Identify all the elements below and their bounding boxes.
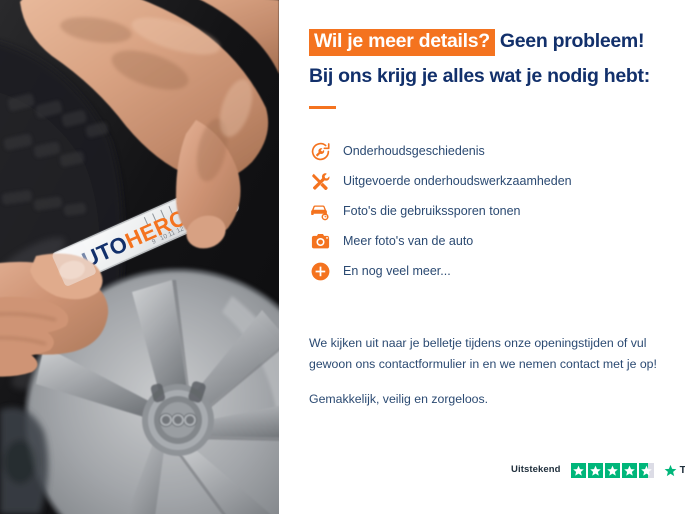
trustpilot-stars bbox=[571, 463, 655, 478]
heading-line-1: Wil je meer details?Geen probleem! bbox=[309, 29, 659, 56]
page-title: Wil je meer details?Geen probleem! Bij o… bbox=[309, 29, 659, 86]
orange-divider bbox=[309, 106, 336, 109]
feature-list: Onderhoudsgeschiedenis Uitgevoerde onder… bbox=[309, 138, 659, 288]
list-item-label: Uitgevoerde onderhoudswerkzaamheden bbox=[343, 174, 572, 189]
list-item-label: Meer foto's van de auto bbox=[343, 234, 473, 249]
plus-circle-icon bbox=[309, 261, 331, 283]
list-item: Onderhoudsgeschiedenis bbox=[309, 138, 659, 165]
heading-rest: Geen probleem! bbox=[495, 32, 644, 52]
camera-icon bbox=[309, 231, 331, 253]
list-item: Meer foto's van de auto bbox=[309, 228, 659, 255]
list-item: En nog veel meer... bbox=[309, 258, 659, 285]
trustpilot-badge[interactable]: Uitstekend bbox=[511, 462, 685, 478]
photo-illustration: 9 10 11 12 13 14 15 16 AUTOHERO bbox=[0, 0, 279, 514]
heading-line-2: Bij ons krijg je alles wat je nodig hebt… bbox=[309, 56, 659, 87]
paragraph-tagline: Gemakkelijk, veilig en zorgeloos. bbox=[309, 389, 661, 410]
list-item: Foto's die gebruikssporen tonen bbox=[309, 198, 659, 225]
trustpilot-star-icon bbox=[664, 464, 677, 477]
details-content-panel: Wil je meer details?Geen probleem! Bij o… bbox=[279, 0, 685, 514]
trustpilot-rating-word: Uitstekend bbox=[511, 465, 561, 475]
list-item-label: Onderhoudsgeschiedenis bbox=[343, 144, 485, 159]
tyre-tread-photo: 9 10 11 12 13 14 15 16 AUTOHERO bbox=[0, 0, 279, 514]
promo-card: 9 10 11 12 13 14 15 16 AUTOHERO bbox=[0, 0, 685, 514]
list-item: Uitgevoerde onderhoudswerkzaamheden bbox=[309, 168, 659, 195]
crossed-tools-icon bbox=[309, 171, 331, 193]
heading-highlight: Wil je meer details? bbox=[309, 29, 495, 56]
trustpilot-logo: Trustpilot bbox=[664, 464, 685, 477]
contact-text-block: We kijken uit naar je belletje tijdens o… bbox=[309, 333, 661, 410]
maintenance-history-icon bbox=[309, 141, 331, 163]
trustpilot-wordmark: Trustpilot bbox=[680, 465, 685, 476]
paragraph-contact: We kijken uit naar je belletje tijdens o… bbox=[309, 333, 661, 374]
car-inspection-icon bbox=[309, 201, 331, 223]
list-item-label: Foto's die gebruikssporen tonen bbox=[343, 204, 521, 219]
list-item-label: En nog veel meer... bbox=[343, 264, 451, 279]
